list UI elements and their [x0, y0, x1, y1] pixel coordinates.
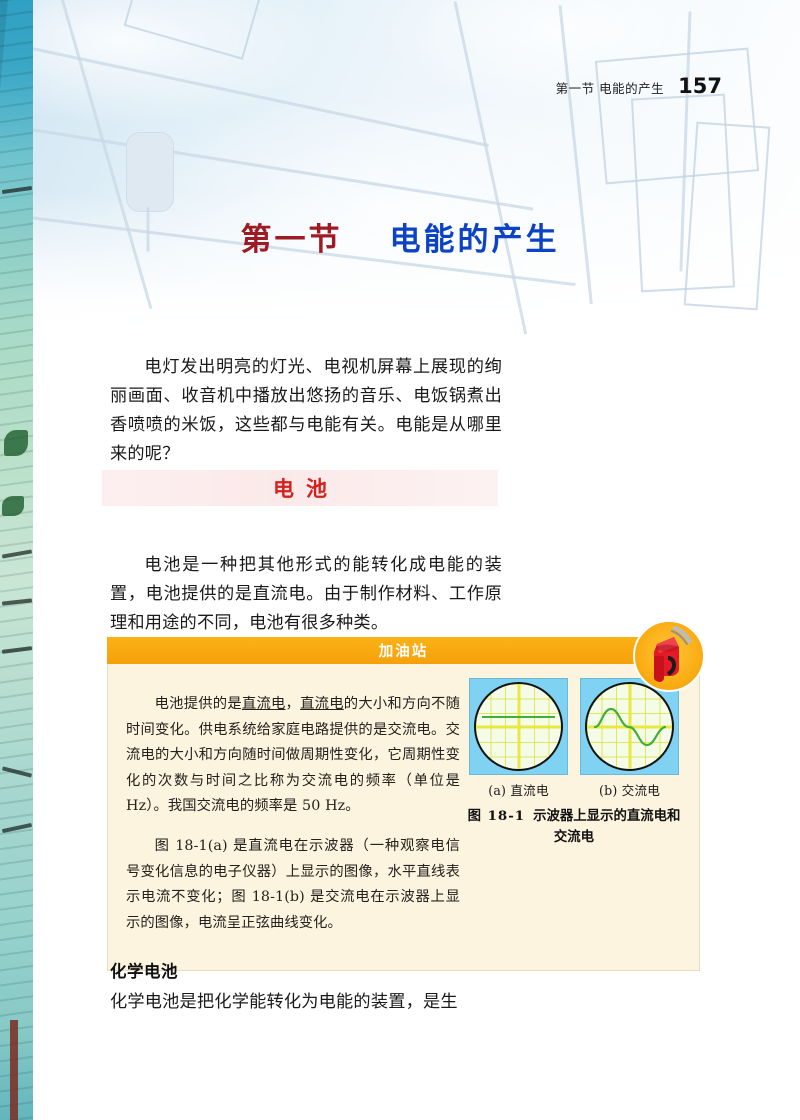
figure-sub-caption-b: (b) 交流电 — [580, 780, 679, 799]
gas-station-callout-box: 加油站 电池提供的是直流电，直流电的大小和方向不随时间变化。供电系统给家庭电路提… — [107, 637, 700, 971]
chemical-battery-paragraph: 化学电池是把化学能转化为电能的装置，是生 — [110, 988, 502, 1017]
gas-p1-before: 电池提供的是 — [155, 696, 242, 712]
section-title: 第一节 电能的产生 — [0, 214, 800, 259]
battery-section-label: 电池 — [261, 473, 339, 503]
gas-station-header: 加油站 — [107, 637, 700, 664]
oscilloscope-dc — [469, 678, 568, 775]
chemical-battery-block: 化学电池 化学电池是把化学能转化为电能的装置，是生 — [110, 958, 502, 1034]
section-title-number: 第一节 — [240, 222, 342, 258]
gas-p1-after: 的大小和方向不随时间变化。供电系统给家庭电路提供的是交流电。交流电的大小和方向随… — [126, 696, 460, 814]
running-head-section: 第一节 电能的产生 — [556, 78, 664, 97]
strip-pole — [10, 1020, 18, 1120]
gas-p1-underline-2: 直流电 — [300, 696, 344, 712]
oscilloscope-dc-trace — [482, 716, 555, 718]
oscilloscope-ac-screen — [585, 682, 674, 771]
fuel-nozzle-icon — [633, 620, 705, 692]
figure-18-1: (a) 直流电 (b) 交流电 图 18-1示波器上显示的直流电和交流电 — [467, 678, 681, 848]
chemical-battery-heading: 化学电池 — [110, 958, 502, 982]
section-title-name: 电能的产生 — [390, 222, 560, 258]
strip-texture — [0, 0, 33, 1120]
oscilloscope-ac — [580, 678, 679, 775]
textbook-page: 第一节 电能的产生 157 第一节 电能的产生 电灯发出明亮的灯光、电视机屏幕上… — [0, 0, 800, 1120]
gas-station-body: 电池提供的是直流电，直流电的大小和方向不随时间变化。供电系统给家庭电路提供的是交… — [107, 664, 700, 971]
running-head: 第一节 电能的产生 157 — [556, 74, 722, 98]
background-sky-image — [0, 0, 800, 330]
figure-sub-caption-a: (a) 直流电 — [469, 780, 568, 799]
oscilloscope-dc-screen — [474, 682, 563, 771]
strip-foliage — [2, 496, 24, 516]
gas-station-paragraph-2: 图 18-1(a) 是直流电在示波器（一种观察电信号变化信息的电子仪器）上显示的… — [126, 834, 460, 936]
oscilloscope-dc-horizontal-axis — [476, 725, 561, 728]
battery-paragraph: 电池是一种把其他形式的能转化成电能的装置，电池提供的是直流电。由于制作材料、工作… — [110, 551, 502, 638]
gas-p1-underline-1: 直流电 — [242, 696, 286, 712]
gas-station-paragraph-1: 电池提供的是直流电，直流电的大小和方向不随时间变化。供电系统给家庭电路提供的是交… — [126, 692, 460, 820]
intro-paragraph-block: 电灯发出明亮的灯光、电视机屏幕上展现的绚丽画面、收音机中播放出悠扬的音乐、电饭锅… — [110, 336, 502, 486]
figure-sub-captions: (a) 直流电 (b) 交流电 — [467, 780, 681, 799]
oscilloscope-pair — [467, 678, 681, 775]
figure-caption-text: 示波器上显示的直流电和交流电 — [533, 808, 680, 845]
left-edge-photo-strip — [0, 0, 33, 1120]
strip-foliage — [4, 430, 28, 456]
oscilloscope-ac-trace — [587, 684, 672, 769]
page-number: 157 — [678, 74, 722, 98]
gas-station-header-label: 加油站 — [379, 640, 429, 661]
gas-p1-middle: ， — [286, 696, 301, 712]
figure-caption-number: 图 18-1 — [468, 808, 526, 824]
fuel-nozzle-glyph — [635, 622, 703, 690]
intro-paragraph: 电灯发出明亮的灯光、电视机屏幕上展现的绚丽画面、收音机中播放出悠扬的音乐、电饭锅… — [110, 353, 502, 469]
insulator — [126, 132, 174, 212]
figure-caption: 图 18-1示波器上显示的直流电和交流电 — [467, 806, 681, 848]
battery-section-banner: 电池 — [102, 470, 498, 506]
